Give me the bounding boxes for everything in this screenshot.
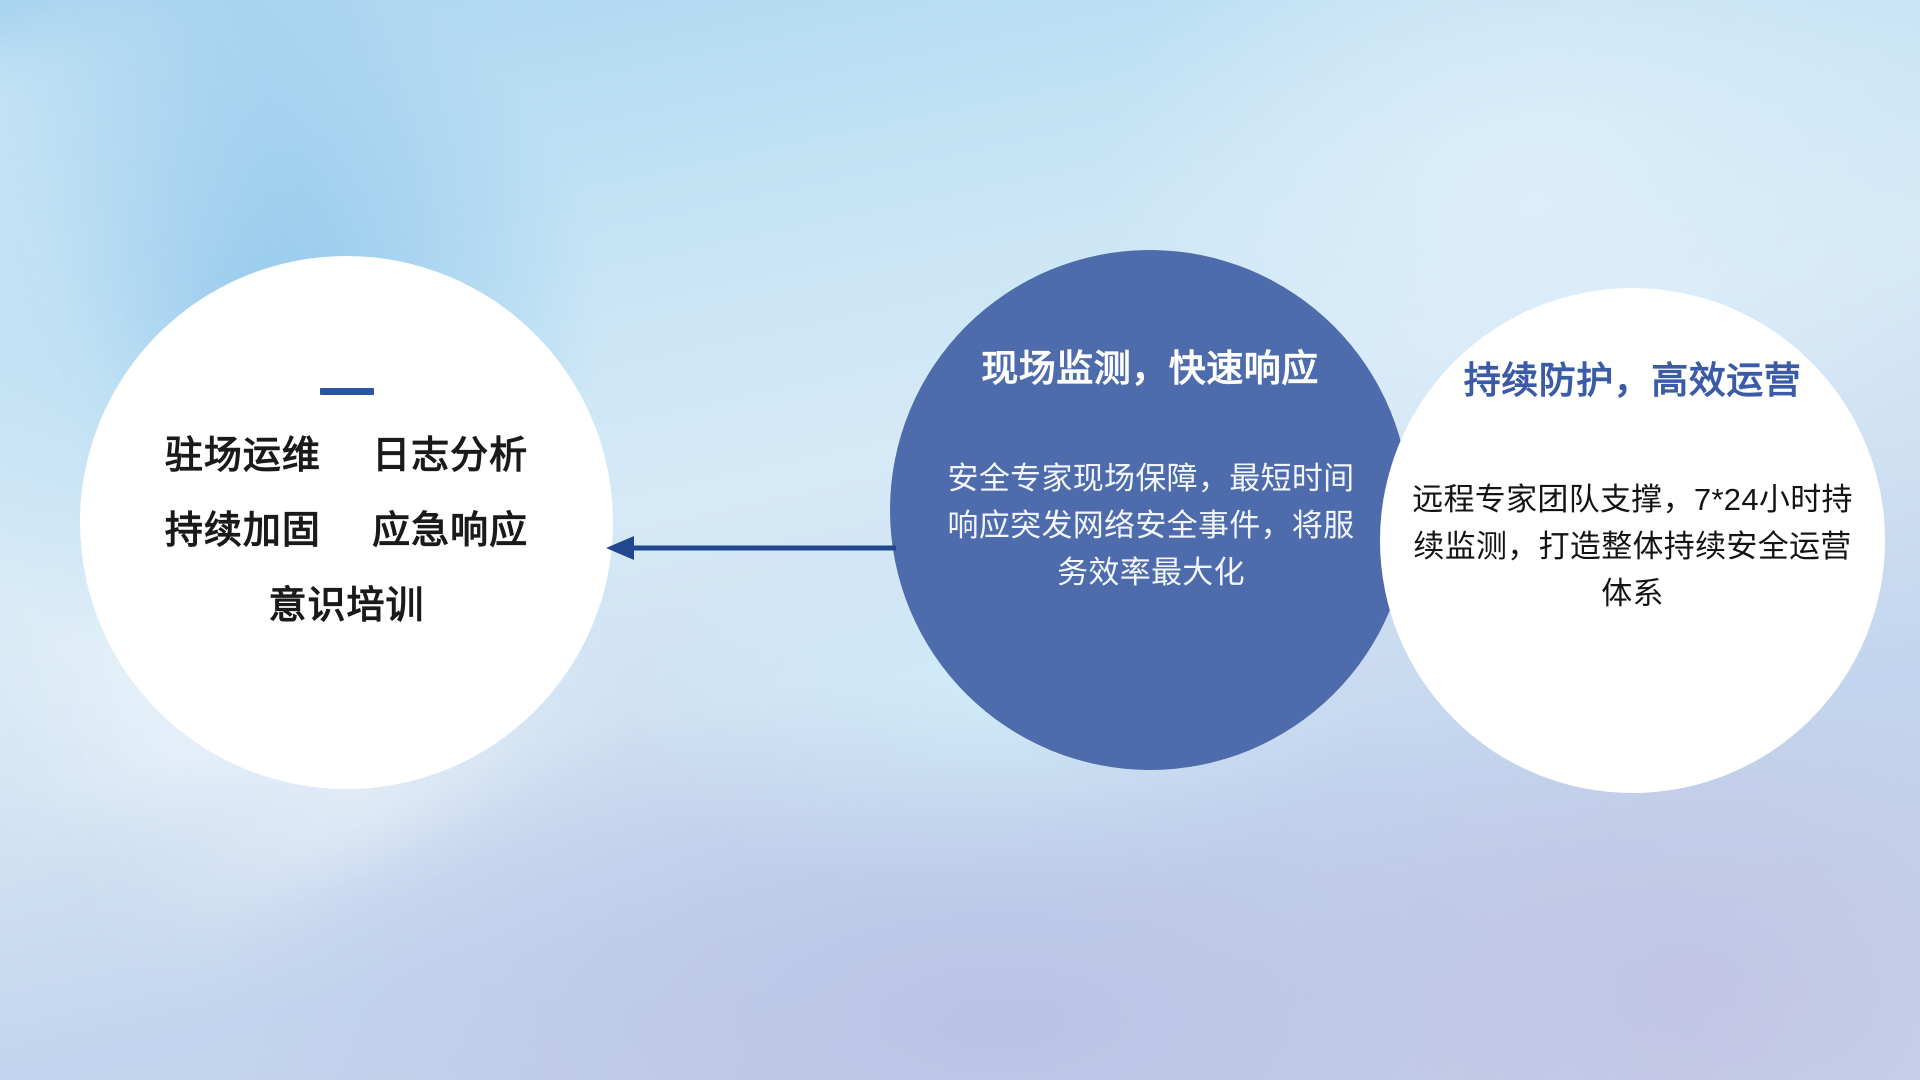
left-circle-line-3: 意识培训 <box>80 587 613 625</box>
right-operations-circle: 持续防护，高效运营 远程专家团队支撑，7*24小时持续监测，打造整体持续安全运营… <box>1380 288 1885 793</box>
right-circle-body: 远程专家团队支撑，7*24小时持续监测，打造整体持续安全运营体系 <box>1412 476 1853 617</box>
slide-canvas: 驻场运维 日志分析 持续加固 应急响应 意识培训 现场监测，快速响应 安全专家现… <box>0 0 1920 1080</box>
right-circle-title: 持续防护，高效运营 <box>1400 350 1865 404</box>
left-circle-content: 驻场运维 日志分析 持续加固 应急响应 意识培训 <box>80 388 613 625</box>
left-circle-tag-onsite-ops: 驻场运维 <box>165 435 321 477</box>
accent-dash-divider <box>320 388 374 395</box>
arrow-left-icon <box>600 518 900 578</box>
left-circle-tag-emergency-response: 应急响应 <box>372 510 528 552</box>
left-service-circle: 驻场运维 日志分析 持续加固 应急响应 意识培训 <box>80 256 613 789</box>
left-circle-tag-awareness-training: 意识培训 <box>268 585 424 627</box>
flow-arrow <box>600 518 900 578</box>
mid-circle-title: 现场监测，快速响应 <box>918 338 1382 392</box>
left-circle-tag-log-analysis: 日志分析 <box>372 435 528 477</box>
left-circle-line-1: 驻场运维 日志分析 <box>80 437 613 475</box>
mid-monitoring-circle: 现场监测，快速响应 安全专家现场保障，最短时间响应突发网络安全事件，将服务效率最… <box>890 250 1410 770</box>
left-circle-tag-continuous-hardening: 持续加固 <box>165 510 321 552</box>
left-circle-line-2: 持续加固 应急响应 <box>80 512 613 550</box>
mid-circle-body: 安全专家现场保障，最短时间响应突发网络安全事件，将服务效率最大化 <box>946 455 1356 596</box>
